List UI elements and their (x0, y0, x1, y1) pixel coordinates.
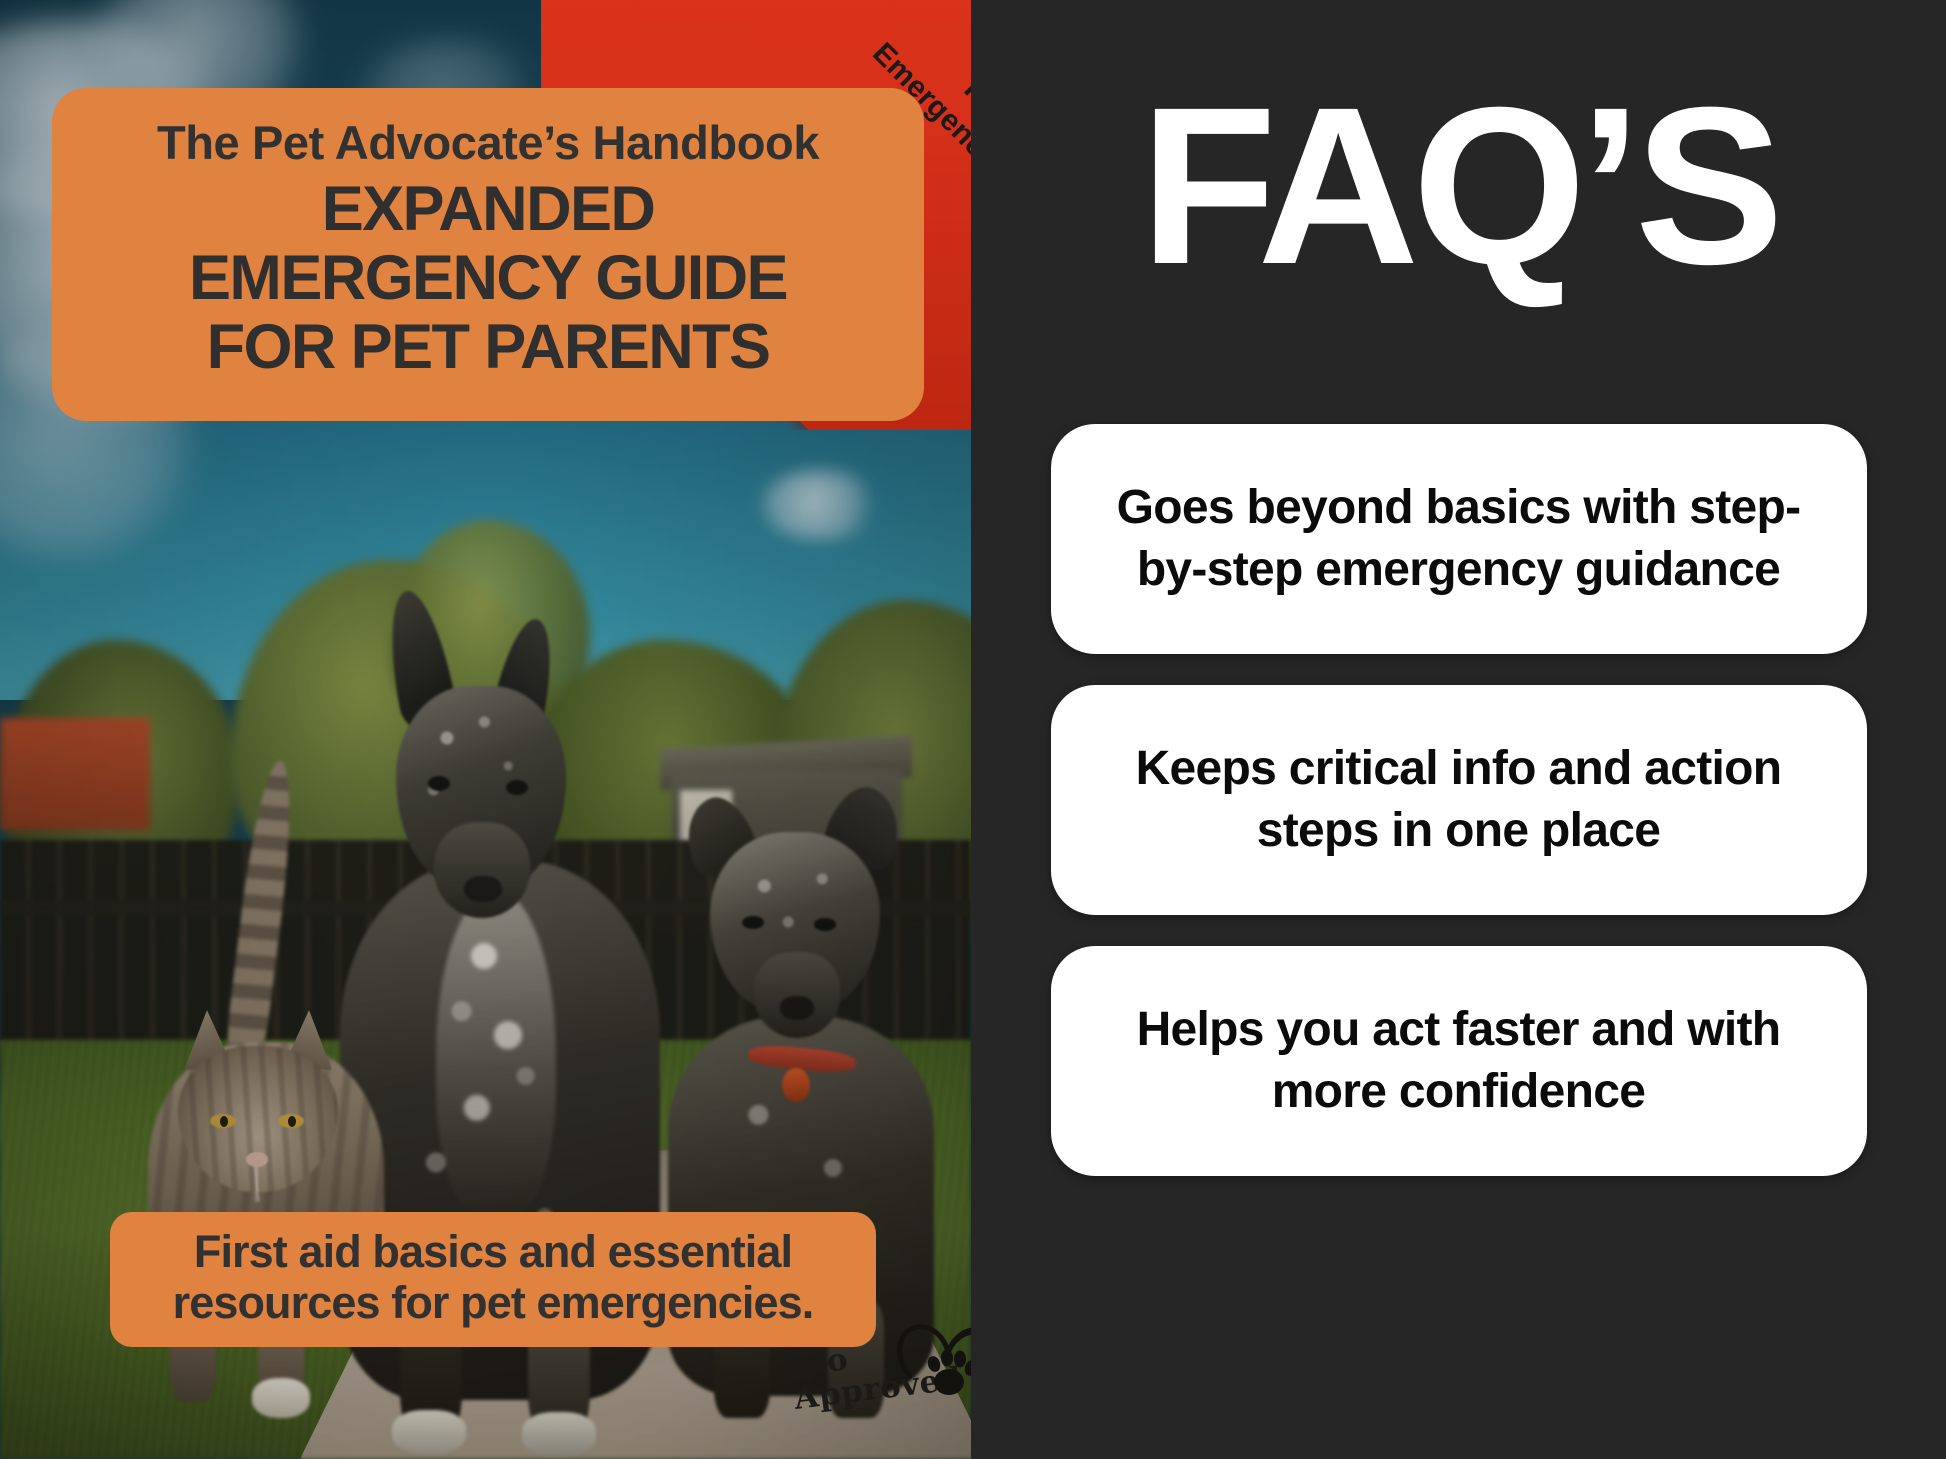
dog-eye (814, 918, 836, 931)
heart-paw-icon (894, 1302, 971, 1422)
dog-nose (464, 876, 502, 902)
faq-panel: FAQ’S Goes beyond basics with step-by-st… (971, 0, 1946, 1459)
cover-title-box: The Pet Advocate’s Handbook EXPANDED EME… (52, 88, 924, 421)
red-shed (0, 718, 150, 830)
faq-card-text: Goes beyond basics with step-by-step eme… (1105, 477, 1813, 602)
book-cover-image: Poisons First Aid Emergency Kit The Pet … (0, 0, 971, 1459)
cover-caption-box: First aid basics and essential resources… (110, 1212, 876, 1347)
dog-nose (780, 996, 814, 1020)
poster-root: Poisons First Aid Emergency Kit The Pet … (0, 0, 1946, 1459)
faq-card[interactable]: Helps you act faster and with more confi… (1051, 946, 1867, 1176)
faq-card[interactable]: Goes beyond basics with step-by-step eme… (1051, 424, 1867, 654)
dog-muzzle (754, 952, 840, 1038)
cover-kicker: The Pet Advocate’s Handbook (86, 118, 890, 169)
dog-eye (742, 916, 764, 929)
dog-chest (436, 890, 556, 1220)
cover-caption-line-1: First aid basics and essential (136, 1226, 850, 1277)
dog-eye (506, 780, 528, 795)
cover-title-line-3: FOR PET PARENTS (86, 313, 890, 382)
faq-card-text: Helps you act faster and with more confi… (1105, 999, 1813, 1124)
cover-title-line-1: EXPANDED (86, 175, 890, 244)
cat-nose (246, 1152, 268, 1167)
dog-paw (522, 1412, 596, 1456)
faq-card-list: Goes beyond basics with step-by-step eme… (971, 424, 1946, 1176)
dog-collar-tag (782, 1068, 810, 1102)
cloud (760, 470, 880, 540)
dog-muzzle (434, 822, 530, 918)
faq-heading: FAQ’S (971, 74, 1946, 298)
cat-whiskers (172, 1160, 352, 1202)
dog-eye (428, 776, 450, 791)
leo-approved-stamp: Leo Approved (786, 1336, 971, 1446)
cat-pupil (220, 1116, 228, 1127)
cat-paw (252, 1378, 310, 1418)
cat-pupil (288, 1116, 296, 1127)
faq-card[interactable]: Keeps critical info and action steps in … (1051, 685, 1867, 915)
cover-title-line-2: EMERGENCY GUIDE (86, 244, 890, 313)
cover-caption-line-2: resources for pet emergencies. (136, 1277, 850, 1328)
faq-card-text: Keeps critical info and action steps in … (1105, 738, 1813, 863)
